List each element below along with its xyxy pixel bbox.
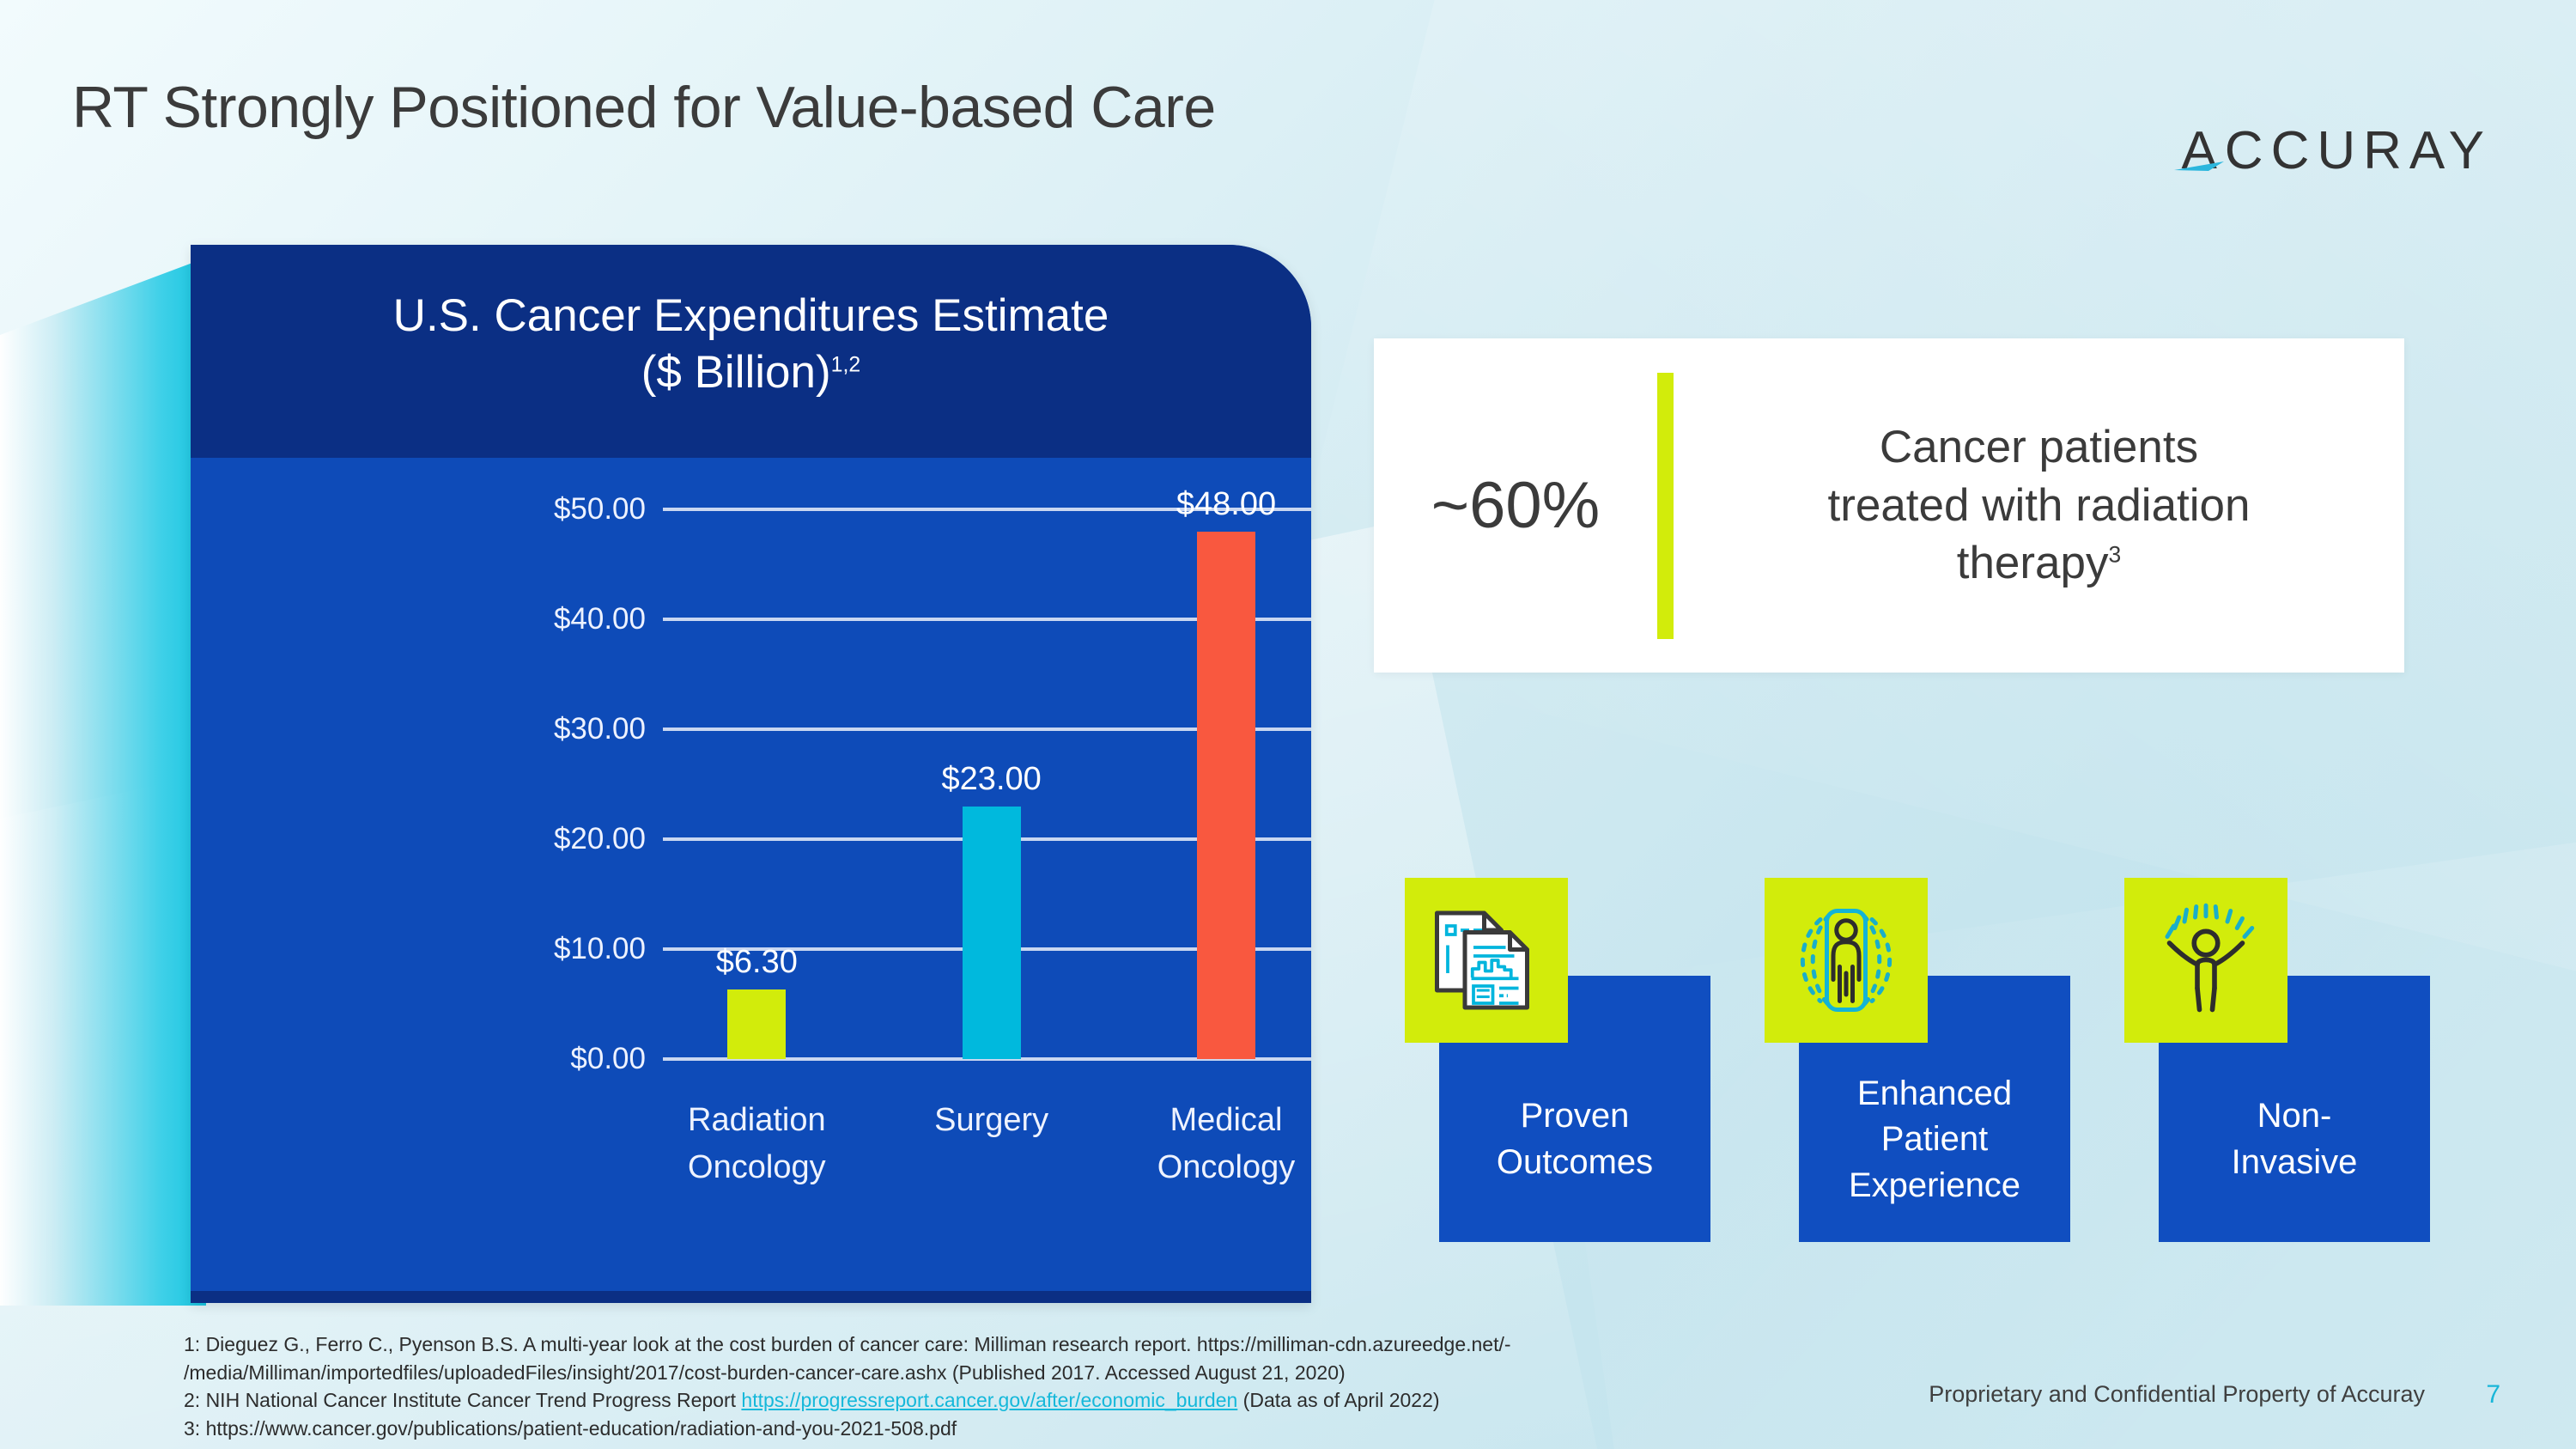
footnote-line-1: 1: Dieguez G., Ferro C., Pyenson B.S. A …: [184, 1330, 1832, 1359]
callout-text-line2: treated with radiation: [1827, 480, 2250, 531]
footnotes: 1: Dieguez G., Ferro C., Pyenson B.S. A …: [184, 1330, 1832, 1443]
y-axis-tick-label: $30.00: [474, 712, 646, 746]
footnote-line-2: /media/Milliman/importedfiles/uploadedFi…: [184, 1359, 1832, 1387]
y-axis-tick-label: $10.00: [474, 932, 646, 966]
footnote-line-4: 3: https://www.cancer.gov/publications/p…: [184, 1415, 1832, 1443]
chart-bar: [963, 807, 1021, 1059]
chart-plot-area: $0.00$10.00$20.00$30.00$40.00$50.00$6.30…: [191, 458, 1311, 1303]
x-axis-category-label: Medical Oncology: [1157, 1097, 1296, 1191]
callout-text: Cancer patients treated with radiation t…: [1674, 418, 2404, 593]
accuray-logo: ACCURAY: [2181, 120, 2492, 181]
y-axis-tick-label: $0.00: [474, 1042, 646, 1076]
logo-swoosh-icon: [2174, 160, 2226, 174]
chart-bar-value-label: $6.30: [716, 944, 798, 981]
footnote-3-suffix: (Data as of April 2022): [1237, 1389, 1439, 1411]
accuray-logo-text: ACCURAY: [2181, 121, 2492, 180]
feature-card-proven-outcomes: Proven Outcomes: [1405, 878, 1676, 1144]
footnote-3-link[interactable]: https://progressreport.cancer.gov/after/…: [741, 1389, 1237, 1411]
footnote-3-prefix: 2: NIH National Cancer Institute Cancer …: [184, 1389, 741, 1411]
page-number: 7: [2486, 1380, 2500, 1409]
callout-superscript: 3: [2109, 542, 2122, 568]
person-arms-raised-icon: [2142, 896, 2270, 1025]
patient-capsule-icon: [1782, 896, 1911, 1025]
callout-text-line1: Cancer patients: [1880, 422, 2198, 472]
y-axis-tick-label: $40.00: [474, 602, 646, 636]
callout-text-line3: therapy: [1957, 538, 2109, 588]
y-axis-tick-label: $20.00: [474, 822, 646, 856]
documents-chart-icon: [1422, 896, 1551, 1025]
chart-bar: [727, 989, 786, 1059]
y-axis-tick-label: $50.00: [474, 492, 646, 527]
chart-card: U.S. Cancer Expenditures Estimate ($ Bil…: [191, 245, 1311, 1303]
feature-card-enhanced-patient-experience: Enhanced Patient Experience: [1765, 878, 2036, 1144]
chart-title-line2: ($ Billion): [641, 347, 831, 398]
footnote-line-3: 2: NIH National Cancer Institute Cancer …: [184, 1386, 1832, 1415]
callout-stat: ~60%: [1374, 468, 1657, 543]
feature-label: Non- Invasive: [2232, 1032, 2358, 1185]
cyan-accent-wedge: [0, 258, 206, 1306]
chart-title: U.S. Cancer Expenditures Estimate ($ Bil…: [191, 288, 1311, 402]
confidentiality-notice: Proprietary and Confidential Property of…: [1929, 1381, 2425, 1408]
feature-card-non-invasive: Non- Invasive: [2124, 878, 2396, 1144]
chart-bar: [1197, 532, 1255, 1059]
feature-icon-tile: [1765, 878, 1928, 1043]
chart-bar-value-label: $48.00: [1176, 486, 1276, 523]
x-axis-category-label: Radiation Oncology: [688, 1097, 826, 1191]
slide: RT Strongly Positioned for Value-based C…: [0, 0, 2576, 1449]
chart-card-bottom-strip: [191, 1291, 1311, 1303]
callout-divider: [1657, 373, 1674, 639]
feature-icon-tile: [1405, 878, 1568, 1043]
page-title: RT Strongly Positioned for Value-based C…: [72, 74, 1216, 141]
x-axis-category-label: Surgery: [934, 1097, 1048, 1144]
feature-label: Proven Outcomes: [1497, 1032, 1653, 1185]
chart-title-line1: U.S. Cancer Expenditures Estimate: [393, 290, 1109, 341]
chart-title-superscript: 1,2: [831, 353, 861, 377]
chart-bar-value-label: $23.00: [942, 761, 1042, 798]
callout-box: ~60% Cancer patients treated with radiat…: [1374, 338, 2404, 673]
feature-icon-tile: [2124, 878, 2287, 1043]
